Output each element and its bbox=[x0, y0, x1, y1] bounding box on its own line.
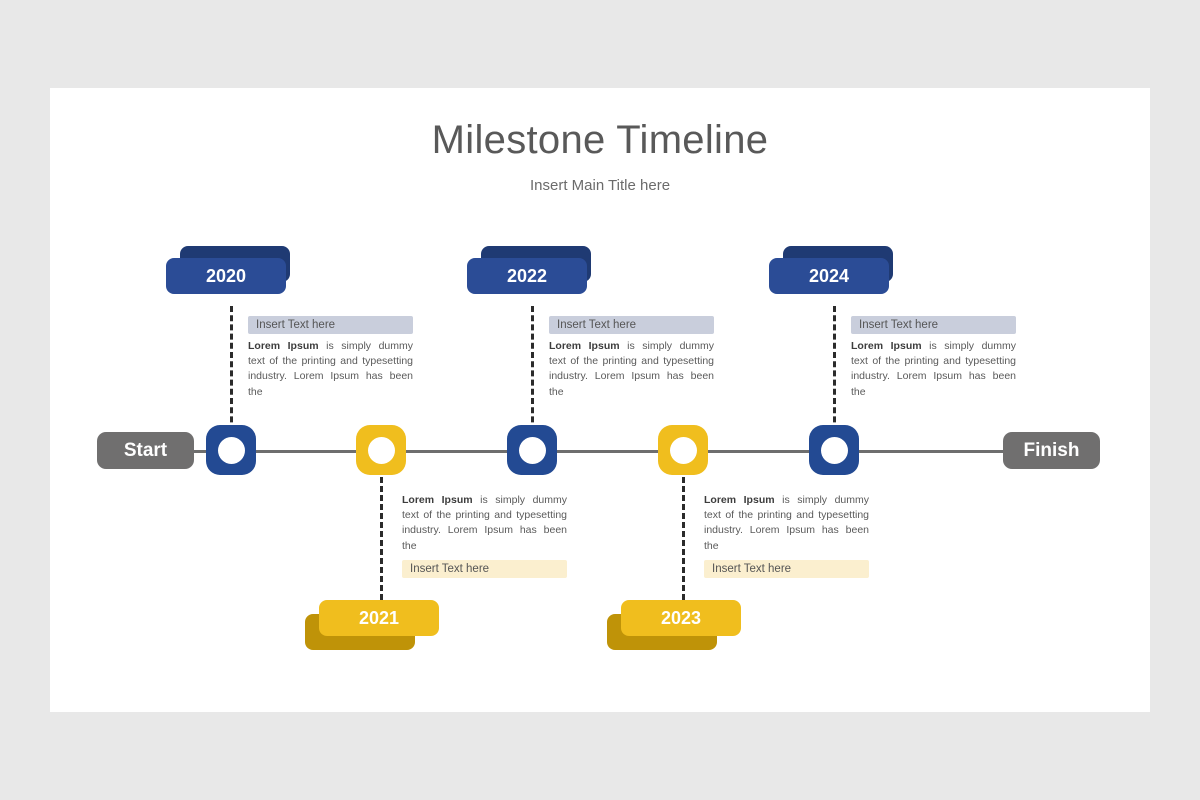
body-lead-2021: Lorem Ipsum bbox=[402, 494, 473, 506]
page-subtitle: Insert Main Title here bbox=[50, 177, 1150, 194]
milestone-node-2022[interactable] bbox=[507, 425, 557, 475]
node-hole-icon bbox=[368, 437, 395, 464]
year-card-front[interactable]: 2023 bbox=[621, 600, 741, 636]
insert-text-chip-2021[interactable]: Insert Text here bbox=[402, 560, 567, 578]
slide-canvas: Milestone Timeline Insert Main Title her… bbox=[50, 88, 1150, 712]
year-card-2024[interactable]: 2024 bbox=[769, 246, 893, 286]
milestone-node-2024[interactable] bbox=[809, 425, 859, 475]
body-lead-2020: Lorem Ipsum bbox=[248, 340, 319, 352]
timeline-start-pill[interactable]: Start bbox=[97, 432, 194, 469]
milestone-node-2021[interactable] bbox=[356, 425, 406, 475]
body-lead-2022: Lorem Ipsum bbox=[549, 340, 620, 352]
timeline-finish-pill[interactable]: Finish bbox=[1003, 432, 1100, 469]
node-hole-icon bbox=[519, 437, 546, 464]
year-label-2022: 2022 bbox=[507, 266, 547, 287]
milestone-body-2020: Lorem Ipsum is simply dummy text of the … bbox=[248, 339, 413, 400]
node-hole-icon bbox=[821, 437, 848, 464]
milestone-body-2021: Lorem Ipsum is simply dummy text of the … bbox=[402, 493, 567, 554]
milestone-text-2021: Lorem Ipsum is simply dummy text of the … bbox=[402, 493, 567, 578]
milestone-body-2024: Lorem Ipsum is simply dummy text of the … bbox=[851, 339, 1016, 400]
year-label-2024: 2024 bbox=[809, 266, 849, 287]
year-label-2020: 2020 bbox=[206, 266, 246, 287]
year-card-front[interactable]: 2020 bbox=[166, 258, 286, 294]
milestone-body-2022: Lorem Ipsum is simply dummy text of the … bbox=[549, 339, 714, 400]
page-title: Milestone Timeline bbox=[50, 118, 1150, 163]
timeline-finish-label: Finish bbox=[1024, 440, 1080, 462]
timeline-axis bbox=[160, 450, 1065, 453]
year-card-2020[interactable]: 2020 bbox=[166, 246, 290, 286]
year-card-front[interactable]: 2022 bbox=[467, 258, 587, 294]
node-hole-icon bbox=[670, 437, 697, 464]
year-card-2022[interactable]: 2022 bbox=[467, 246, 591, 286]
milestone-text-2023: Lorem Ipsum is simply dummy text of the … bbox=[704, 493, 869, 578]
milestone-node-2020[interactable] bbox=[206, 425, 256, 475]
insert-text-chip-2024[interactable]: Insert Text here bbox=[851, 316, 1016, 334]
timeline-start-label: Start bbox=[124, 440, 167, 462]
year-label-2023: 2023 bbox=[661, 608, 701, 629]
year-label-2021: 2021 bbox=[359, 608, 399, 629]
year-card-2023[interactable]: 2023 bbox=[607, 600, 731, 640]
year-card-front[interactable]: 2021 bbox=[319, 600, 439, 636]
body-lead-2023: Lorem Ipsum bbox=[704, 494, 775, 506]
slide-header: Milestone Timeline Insert Main Title her… bbox=[50, 88, 1150, 194]
milestone-node-2023[interactable] bbox=[658, 425, 708, 475]
year-card-front[interactable]: 2024 bbox=[769, 258, 889, 294]
milestone-body-2023: Lorem Ipsum is simply dummy text of the … bbox=[704, 493, 869, 554]
insert-text-chip-2020[interactable]: Insert Text here bbox=[248, 316, 413, 334]
year-card-2021[interactable]: 2021 bbox=[305, 600, 429, 640]
insert-text-chip-2022[interactable]: Insert Text here bbox=[549, 316, 714, 334]
body-lead-2024: Lorem Ipsum bbox=[851, 340, 922, 352]
node-hole-icon bbox=[218, 437, 245, 464]
milestone-text-2020: Insert Text here Lorem Ipsum is simply d… bbox=[248, 316, 413, 400]
milestone-text-2024: Insert Text here Lorem Ipsum is simply d… bbox=[851, 316, 1016, 400]
milestone-text-2022: Insert Text here Lorem Ipsum is simply d… bbox=[549, 316, 714, 400]
insert-text-chip-2023[interactable]: Insert Text here bbox=[704, 560, 869, 578]
